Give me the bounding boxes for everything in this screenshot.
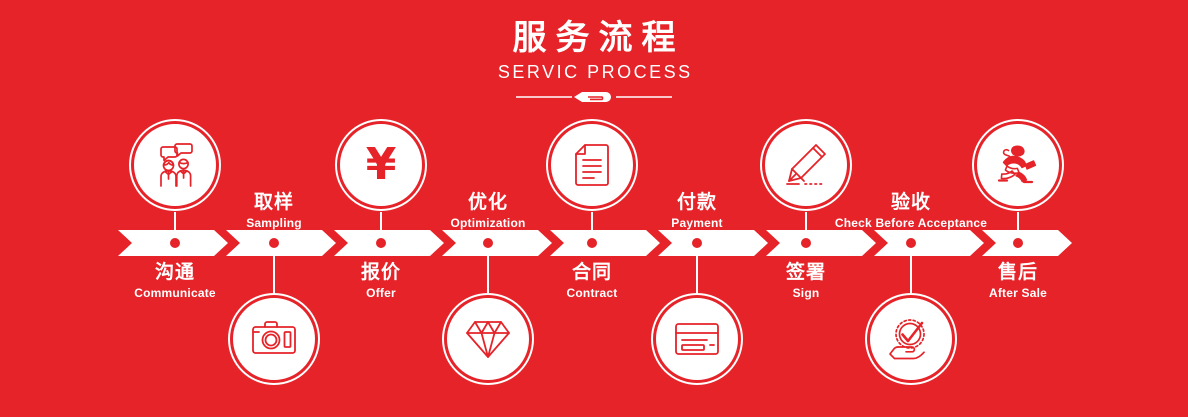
step-label-cn: 付款 bbox=[582, 190, 812, 214]
step-label-cn: 售后 bbox=[903, 260, 1133, 284]
icon-circle-communicate[interactable] bbox=[134, 124, 216, 206]
step-label-en: Offer bbox=[266, 285, 496, 301]
step-label-cn: 沟通 bbox=[60, 260, 290, 284]
step-label-cn: 报价 bbox=[266, 260, 496, 284]
step-label-acceptance: 验收 Check Before Acceptance bbox=[796, 190, 1026, 231]
process-timeline-bar bbox=[118, 230, 1072, 256]
page-title-cn: 服务流程 bbox=[0, 18, 1188, 58]
pencil-signature-icon bbox=[783, 143, 829, 187]
people-speech-bubbles-icon bbox=[152, 142, 198, 188]
step-label-communicate: 沟通 Communicate bbox=[60, 260, 290, 301]
step-label-en: Check Before Acceptance bbox=[796, 215, 1026, 231]
diamond-gem-icon bbox=[466, 318, 510, 360]
icon-circle-sign[interactable] bbox=[765, 124, 847, 206]
step-label-en: Communicate bbox=[60, 285, 290, 301]
step-label-cn: 取样 bbox=[159, 190, 389, 214]
step-label-en: Sampling bbox=[159, 215, 389, 231]
title-divider bbox=[0, 90, 1188, 104]
banner-header: 服务流程 SERVIC PROCESS bbox=[0, 18, 1188, 104]
step-label-cn: 合同 bbox=[477, 260, 707, 284]
page-title-en: SERVIC PROCESS bbox=[0, 61, 1188, 83]
step-label-payment: 付款 Payment bbox=[582, 190, 812, 231]
icon-circle-sampling[interactable] bbox=[233, 298, 315, 380]
step-label-en: After Sale bbox=[903, 285, 1133, 301]
step-label-en: Sign bbox=[691, 285, 921, 301]
icon-circle-contract[interactable] bbox=[551, 124, 633, 206]
step-label-en: Optimization bbox=[373, 215, 603, 231]
paperclip-ornament-icon bbox=[514, 90, 674, 104]
icon-circle-after-sale[interactable] bbox=[977, 124, 1059, 206]
hand-checkmark-badge-icon bbox=[888, 317, 934, 361]
step-label-cn: 优化 bbox=[373, 190, 603, 214]
step-label-offer: 报价 Offer bbox=[266, 260, 496, 301]
icon-circle-offer[interactable]: ¥ bbox=[340, 124, 422, 206]
service-process-banner: 服务流程 SERVIC PROCESS bbox=[0, 0, 1188, 417]
credit-card-icon bbox=[674, 322, 720, 356]
step-label-cn: 验收 bbox=[796, 190, 1026, 214]
step-label-after-sale: 售后 After Sale bbox=[903, 260, 1133, 301]
running-delivery-person-icon bbox=[994, 144, 1042, 186]
step-label-contract: 合同 Contract bbox=[477, 260, 707, 301]
icon-circle-acceptance[interactable] bbox=[870, 298, 952, 380]
step-label-cn: 签署 bbox=[691, 260, 921, 284]
camera-icon bbox=[251, 319, 297, 359]
step-label-en: Payment bbox=[582, 215, 812, 231]
icon-circle-payment[interactable] bbox=[656, 298, 738, 380]
step-label-en: Contract bbox=[477, 285, 707, 301]
document-contract-icon bbox=[574, 143, 610, 187]
yen-currency-icon: ¥ bbox=[366, 143, 397, 187]
step-label-optimization: 优化 Optimization bbox=[373, 190, 603, 231]
icon-circle-optimization[interactable] bbox=[447, 298, 529, 380]
step-label-sampling: 取样 Sampling bbox=[159, 190, 389, 231]
step-label-sign: 签署 Sign bbox=[691, 260, 921, 301]
